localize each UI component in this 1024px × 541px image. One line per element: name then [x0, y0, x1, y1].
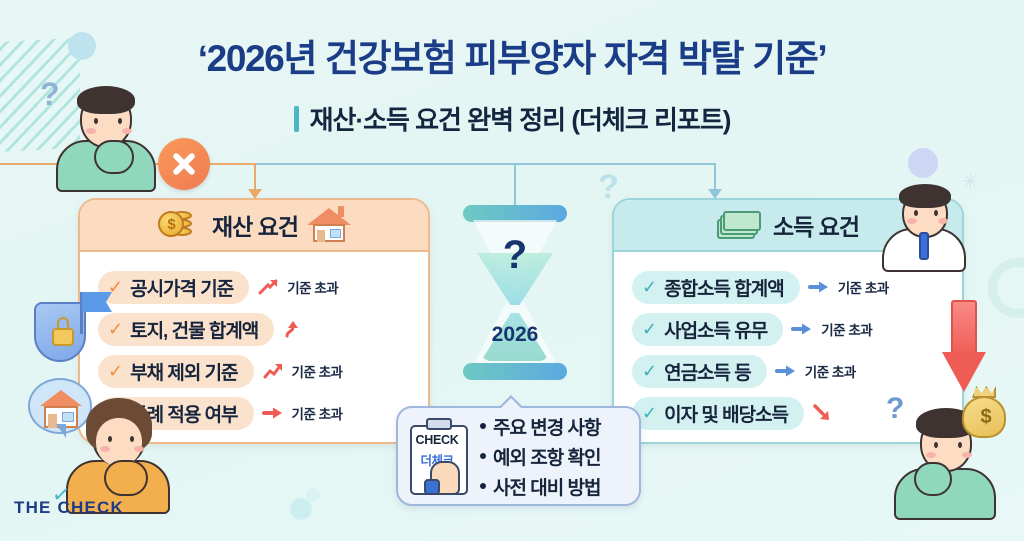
arrow-down-right-icon: [812, 404, 834, 422]
check-icon: ✓: [642, 362, 656, 380]
question-mark-decor: ?: [40, 76, 60, 113]
list-item[interactable]: ✓ 연금소득 등 기준 초과: [614, 350, 962, 392]
page-title: ‘2026년 건강보험 피부양자 자격 박탈 기준’: [0, 28, 1024, 82]
requirement-note: 기준 초과: [292, 361, 343, 381]
requirement-note: 기준 초과: [287, 277, 338, 297]
person-arm: [104, 460, 148, 496]
hourglass-illustration: ? 2026: [463, 205, 567, 380]
card-tail-inner: [500, 398, 522, 409]
shield-lock-icon: [34, 302, 86, 362]
connector-left-vertical: [254, 163, 256, 191]
requirement-label: 부채 제외 기준: [130, 358, 237, 385]
list-item[interactable]: ✓ 토지, 건물 합계액: [80, 308, 428, 350]
panel-left-header: $ 재산 요건: [80, 200, 428, 252]
check-summary-card: CHECK 더체크 주요 변경 사항 예외 조항 확인 사전 대비 방법: [396, 406, 641, 506]
arrow-right-icon: [775, 362, 797, 380]
cash-stack-icon: [717, 210, 763, 240]
bullet-dot-icon: [480, 423, 486, 429]
person-thinking-topleft: ?: [46, 78, 166, 188]
hourglass-cap-bottom: [463, 363, 567, 380]
bullet-label: 주요 변경 사항: [493, 413, 600, 440]
requirement-pill[interactable]: ✓ 사업소득 유무: [632, 313, 783, 346]
check-mark-icon: ✓: [50, 481, 72, 509]
bullet-label: 예외 조항 확인: [493, 443, 600, 470]
arrow-up-right-icon: [262, 362, 284, 380]
check-icon: ✓: [108, 362, 122, 380]
requirement-note: 기준 초과: [292, 403, 343, 423]
list-item: 주요 변경 사항: [480, 413, 600, 440]
clipboard-icon: CHECK 더체크: [408, 417, 470, 495]
list-item[interactable]: ✓ 공시가격 기준 기준 초과: [80, 266, 428, 308]
hourglass-question-mark: ?: [463, 233, 567, 278]
dot-decoration: [306, 488, 320, 502]
requirement-pill[interactable]: ✓ 이자 및 배당소득: [632, 397, 804, 430]
list-item: 사전 대비 방법: [480, 473, 600, 500]
person-thinking-bottomleft: [60, 392, 180, 512]
list-item[interactable]: ✓ 부채 제외 기준 기준 초과: [80, 350, 428, 392]
requirement-pill[interactable]: ✓ 부채 제외 기준: [98, 355, 254, 388]
arrow-right-icon: [262, 404, 284, 422]
requirement-label: 공시가격 기준: [130, 274, 233, 301]
list-item[interactable]: ✓ 종합소득 합계액 기준 초과: [614, 266, 962, 308]
arrow-up-right-icon: [257, 278, 279, 296]
check-icon: ✓: [642, 278, 656, 296]
person-arm: [94, 140, 134, 174]
check-icon: ✓: [642, 320, 656, 338]
hourglass-cap-top: [463, 205, 567, 222]
connector-right-horizontal: [256, 163, 716, 165]
requirement-note: 기준 초과: [805, 361, 856, 381]
clipboard-title: CHECK: [408, 433, 466, 447]
requirement-note: 기준 초과: [821, 319, 872, 339]
arrow-up-icon: [282, 320, 304, 338]
person-arm: [914, 462, 952, 496]
dot-decoration: [908, 148, 938, 178]
requirement-pill[interactable]: ✓ 공시가격 기준: [98, 271, 249, 304]
question-mark-decor: ?: [886, 392, 904, 426]
connector-right-vertical: [714, 163, 716, 191]
panel-left-title: 재산 요건: [212, 208, 298, 242]
big-down-arrow-icon: [942, 300, 986, 392]
necktie-icon: [919, 232, 929, 260]
ring-decoration: [988, 258, 1024, 318]
requirement-label: 사업소득 유무: [664, 316, 767, 343]
list-item: 예외 조항 확인: [480, 443, 600, 470]
bullet-dot-icon: [480, 483, 486, 489]
money-bag-symbol: $: [964, 406, 1008, 429]
subtitle-bar: [294, 106, 299, 132]
title-text: ‘2026년 건강보험 피부양자 자격 박탈 기준’: [198, 38, 826, 79]
list-item[interactable]: ✓ 사업소득 유무 기준 초과: [614, 308, 962, 350]
requirement-label: 연금소득 등: [664, 358, 751, 385]
requirement-pill[interactable]: ✓ 연금소득 등: [632, 355, 767, 388]
check-icon: ✓: [108, 320, 122, 338]
dot-decoration: [290, 498, 312, 520]
card-bullet-list: 주요 변경 사항 예외 조항 확인 사전 대비 방법: [480, 413, 600, 500]
connector-hourglass-vertical: [514, 163, 516, 209]
house-icon: [308, 208, 350, 242]
panel-right-title: 소득 요건: [773, 208, 859, 242]
requirement-note: 기준 초과: [838, 277, 889, 297]
money-bag-icon: $: [962, 396, 1006, 438]
bullet-dot-icon: [480, 453, 486, 459]
requirement-label: 토지, 건물 합계액: [130, 316, 258, 343]
requirement-pill[interactable]: ✓ 토지, 건물 합계액: [98, 313, 274, 346]
person-hair: [77, 86, 135, 114]
requirement-label: 이자 및 배당소득: [664, 400, 788, 427]
infographic-canvas: ✳ ? ‘2026년 건강보험 피부양자 자격 박탈 기준’ 재산·소득 요건 …: [0, 0, 1024, 541]
requirement-label: 종합소득 합계액: [664, 274, 784, 301]
brand-logo: ✓ THE CHECK: [14, 498, 124, 518]
subtitle-text: 재산·소득 요건 완벽 정리 (더체크 리포트): [310, 100, 731, 137]
hourglass-year-label: 2026: [463, 323, 567, 347]
check-icon: ✓: [642, 404, 656, 422]
person-businessman-topright: [876, 182, 972, 260]
requirement-pill[interactable]: ✓ 종합소득 합계액: [632, 271, 800, 304]
arrow-right-icon: [791, 320, 813, 338]
arrow-right-icon: [808, 278, 830, 296]
question-mark-decor: ?: [598, 168, 619, 207]
person-hair: [899, 184, 951, 208]
coins-icon: $: [158, 209, 202, 241]
bullet-label: 사전 대비 방법: [493, 473, 600, 500]
